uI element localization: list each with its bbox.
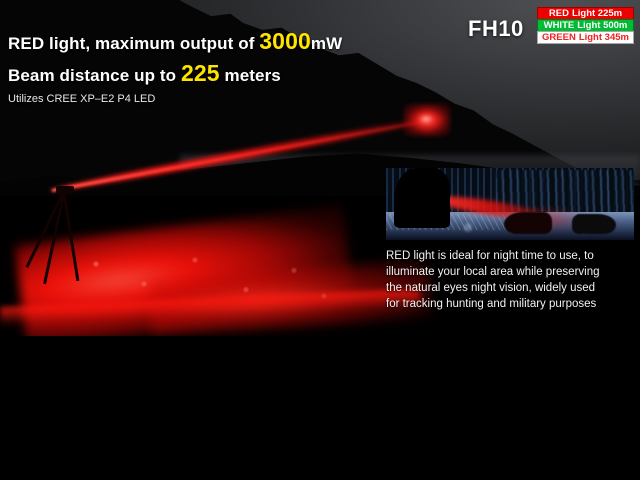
tripod-leg — [43, 190, 66, 285]
red-splash-speckle — [60, 240, 360, 320]
headline-line-1-prefix: RED light, maximum output of — [8, 34, 259, 53]
product-promo-image: RED light, maximum output of 3000mW Beam… — [0, 0, 640, 480]
inset-animal-silhouette — [572, 214, 616, 234]
legend-label-green: GREEN — [542, 31, 576, 44]
inset-animal-silhouette — [504, 212, 552, 234]
headline-line-1: RED light, maximum output of 3000mW — [8, 28, 342, 55]
bottom-black-area — [0, 336, 640, 480]
headline-line-2: Beam distance up to 225 meters — [8, 60, 281, 87]
inset-photo-red-light-demo — [386, 168, 634, 240]
headline-distance-unit: meters — [220, 66, 281, 85]
tripod-leg — [62, 190, 79, 281]
legend-row-green: GREEN Light 345m — [537, 31, 634, 44]
inset-caption-line-1: RED light is ideal for night time to use… — [386, 248, 636, 264]
inset-person-silhouette — [394, 168, 450, 228]
beam-distance-legend: RED Light 225m WHITE Light 500m GREEN Li… — [537, 7, 634, 43]
inset-caption-line-2: illuminate your local area while preserv… — [386, 264, 636, 280]
headline-distance-value: 225 — [181, 60, 220, 86]
beam-terminus-hotspot-core — [418, 114, 434, 124]
model-name: FH10 — [468, 16, 524, 42]
inset-caption: RED light is ideal for night time to use… — [386, 248, 636, 312]
legend-value-green: Light 345m — [579, 31, 629, 44]
led-spec-line: Utilizes CREE XP–E2 P4 LED — [8, 93, 155, 105]
tripod-silhouette — [46, 186, 102, 282]
headline-line-2-prefix: Beam distance up to — [8, 66, 181, 85]
headline-output-value: 3000 — [259, 28, 311, 54]
inset-caption-line-4: for tracking hunting and military purpos… — [386, 296, 636, 312]
inset-caption-line-3: the natural eyes night vision, widely us… — [386, 280, 636, 296]
headline-output-unit: mW — [311, 34, 342, 53]
